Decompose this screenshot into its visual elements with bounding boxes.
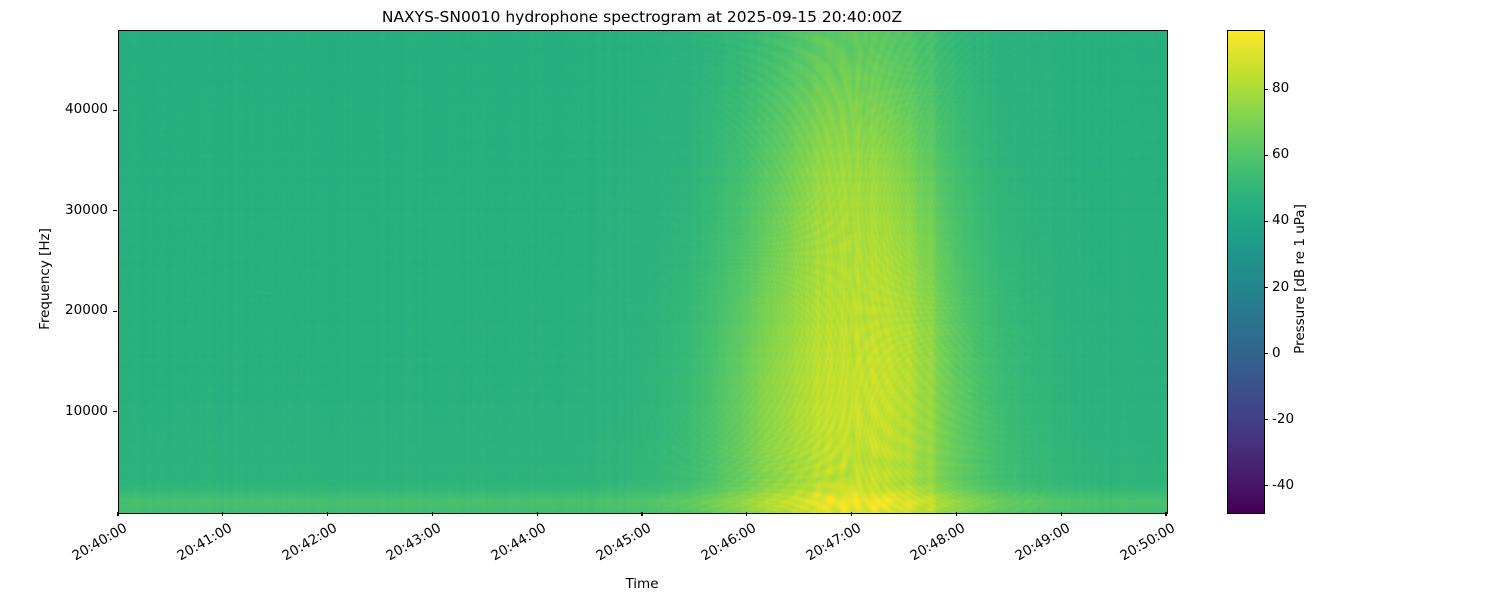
y-tick-mark <box>113 411 117 412</box>
colorbar-tick-mark <box>1264 419 1268 420</box>
spectrogram-image <box>119 31 1167 513</box>
colorbar[interactable] <box>1227 30 1265 514</box>
colorbar-tick-mark <box>1264 89 1268 90</box>
colorbar-tick-mark <box>1264 485 1268 486</box>
colorbar-tick-label: 0 <box>1272 347 1281 361</box>
colorbar-tick-label: 20 <box>1272 281 1289 295</box>
x-tick-mark <box>432 512 433 516</box>
x-tick-mark <box>746 512 747 516</box>
spectrogram-plot-area[interactable] <box>118 30 1168 514</box>
x-tick-label: 20:45:00 <box>589 520 654 567</box>
x-tick-label: 20:43:00 <box>379 520 444 567</box>
colorbar-tick-mark <box>1264 155 1268 156</box>
page-title: NAXYS-SN0010 hydrophone spectrogram at 2… <box>118 8 1166 26</box>
y-tick-label: 20000 <box>65 304 108 318</box>
x-tick-label: 20:48:00 <box>903 520 968 567</box>
x-tick-mark <box>956 512 957 516</box>
colorbar-tick-label: 80 <box>1272 82 1289 96</box>
colorbar-tick-label: 60 <box>1272 148 1289 162</box>
x-tick-label: 20:50:00 <box>1113 520 1178 567</box>
x-tick-label: 20:40:00 <box>65 520 130 567</box>
x-tick-label: 20:41:00 <box>170 520 235 567</box>
colorbar-label: Pressure [dB re 1 uPa] <box>1292 79 1308 479</box>
x-tick-label: 20:47:00 <box>798 520 863 567</box>
colorbar-tick-label: 40 <box>1272 214 1289 228</box>
y-tick-label: 10000 <box>65 405 108 419</box>
x-tick-mark <box>327 512 328 516</box>
x-tick-mark <box>1165 512 1166 516</box>
colorbar-tick-label: -40 <box>1272 479 1294 493</box>
y-tick-mark <box>113 210 117 211</box>
colorbar-tick-mark <box>1264 221 1268 222</box>
x-tick-mark <box>222 512 223 516</box>
x-tick-mark <box>641 512 642 516</box>
y-tick-mark <box>113 110 117 111</box>
x-tick-label: 20:49:00 <box>1008 520 1073 567</box>
colorbar-gradient <box>1228 31 1264 513</box>
y-tick-mark <box>113 311 117 312</box>
y-tick-label: 30000 <box>65 204 108 218</box>
x-tick-mark <box>117 512 118 516</box>
spectrogram-figure: NAXYS-SN0010 hydrophone spectrogram at 2… <box>0 0 1500 600</box>
x-tick-label: 20:46:00 <box>694 520 759 567</box>
x-tick-mark <box>851 512 852 516</box>
x-tick-mark <box>1061 512 1062 516</box>
x-tick-mark <box>537 512 538 516</box>
x-tick-label: 20:42:00 <box>274 520 339 567</box>
colorbar-tick-label: -20 <box>1272 413 1294 427</box>
colorbar-tick-mark <box>1264 353 1268 354</box>
y-tick-label: 40000 <box>65 103 108 117</box>
x-axis-label: Time <box>118 576 1166 592</box>
y-axis-label: Frequency [Hz] <box>37 79 53 479</box>
x-tick-label: 20:44:00 <box>484 520 549 567</box>
colorbar-tick-mark <box>1264 287 1268 288</box>
